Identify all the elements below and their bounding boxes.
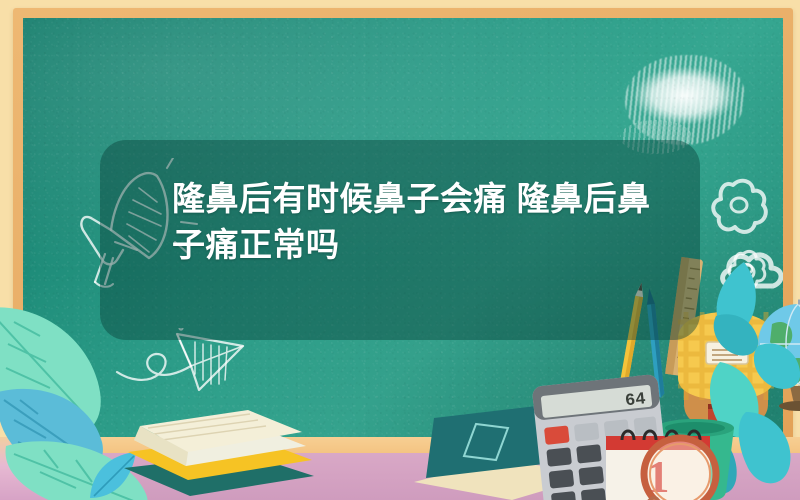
magnifier: [616, 432, 726, 500]
flower-doodle: [703, 173, 773, 243]
book-stack-left: [118, 396, 318, 500]
poster-canvas: 64: [0, 0, 800, 500]
page-title: 隆鼻后有时候鼻子会痛 隆鼻后鼻子痛正常吗: [172, 176, 652, 268]
calculator-display: 64: [624, 390, 646, 411]
